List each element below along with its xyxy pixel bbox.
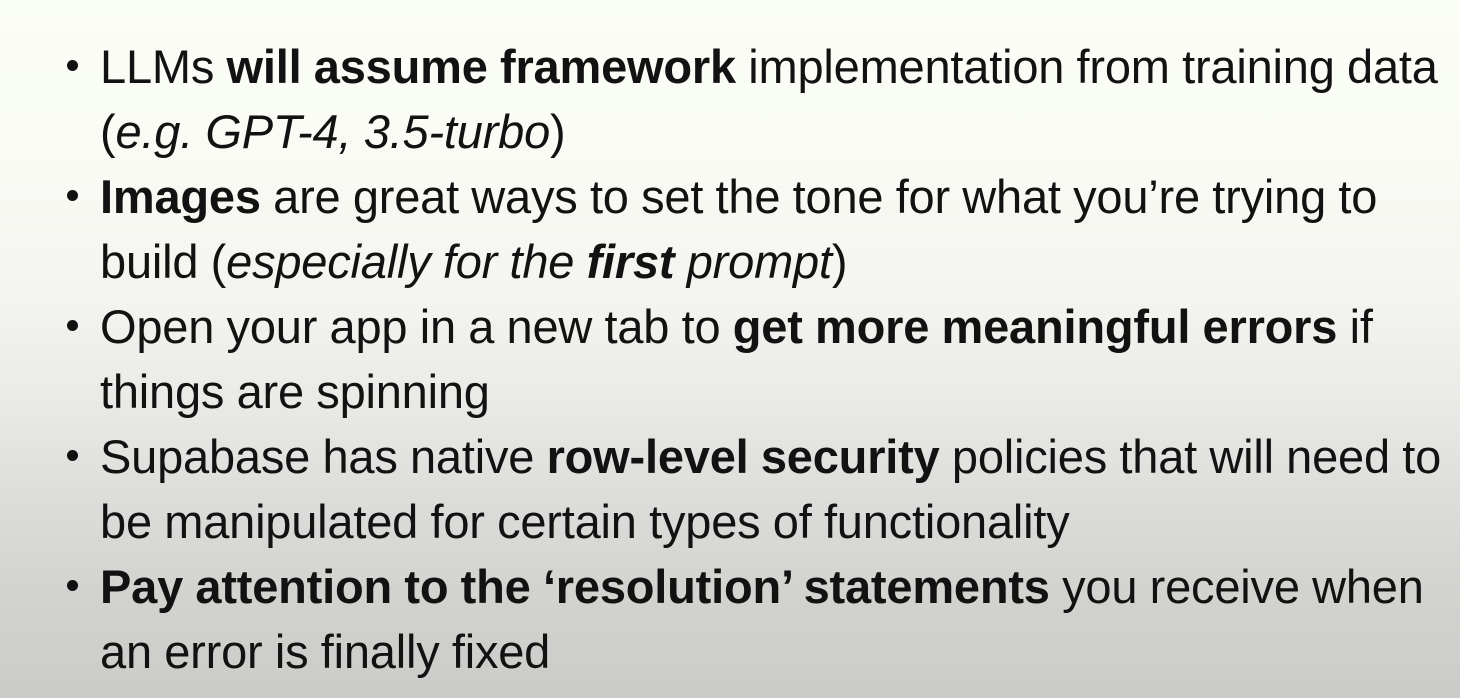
bullet-dot-icon bbox=[67, 190, 78, 201]
text-run-italic: prompt bbox=[674, 235, 831, 288]
bullet-list: LLMs will assume framework implementatio… bbox=[62, 34, 1442, 684]
text-run-normal: LLMs bbox=[100, 40, 227, 93]
bullet-dot-icon bbox=[67, 320, 78, 331]
text-run-bold: Pay attention to the ‘resolution’ statem… bbox=[100, 560, 1050, 613]
list-item: Supabase has native row-level security p… bbox=[62, 424, 1442, 554]
bullet-text: Open your app in a new tab to get more m… bbox=[100, 294, 1442, 424]
bullet-text: Images are great ways to set the tone fo… bbox=[100, 164, 1442, 294]
slide-canvas: LLMs will assume framework implementatio… bbox=[0, 0, 1460, 698]
bullet-text: Supabase has native row-level security p… bbox=[100, 424, 1442, 554]
list-item: Images are great ways to set the tone fo… bbox=[62, 164, 1442, 294]
list-item: Open your app in a new tab to get more m… bbox=[62, 294, 1442, 424]
text-run-normal: Open your app in a new tab to bbox=[100, 300, 733, 353]
list-item: Pay attention to the ‘resolution’ statem… bbox=[62, 554, 1442, 684]
text-run-normal: Supabase has native bbox=[100, 430, 547, 483]
text-run-italic: e.g. GPT-4, 3.5-turbo bbox=[115, 105, 550, 158]
text-run-normal: ) bbox=[550, 105, 565, 158]
bullet-dot-icon bbox=[67, 580, 78, 591]
bullet-dot-icon bbox=[67, 60, 78, 71]
text-run-normal: ) bbox=[832, 235, 847, 288]
text-run-bold-italic: first bbox=[587, 235, 675, 288]
text-run-bold: get more meaningful errors bbox=[733, 300, 1337, 353]
bullet-text: Pay attention to the ‘resolution’ statem… bbox=[100, 554, 1442, 684]
text-run-bold: will assume framework bbox=[227, 40, 736, 93]
text-run-bold: row-level security bbox=[547, 430, 940, 483]
text-run-italic: especially for the bbox=[226, 235, 586, 288]
list-item: LLMs will assume framework implementatio… bbox=[62, 34, 1442, 164]
bullet-dot-icon bbox=[67, 450, 78, 461]
bullet-text: LLMs will assume framework implementatio… bbox=[100, 34, 1442, 164]
text-run-bold: Images bbox=[100, 170, 261, 223]
